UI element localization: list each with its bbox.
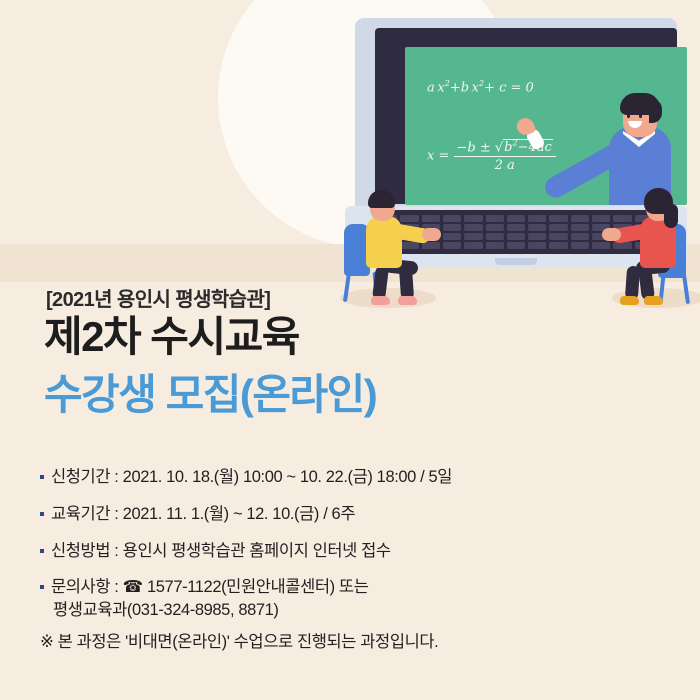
poster-canvas: a x2+b x2+ c = 0 x = −b ± √b2−4ac 2 a <box>0 0 700 700</box>
keyboard-key <box>464 233 482 240</box>
organization-line: [2021년 용인시 평생학습관] <box>46 283 270 312</box>
keyboard-key <box>528 215 546 222</box>
keyboard-key <box>528 242 546 249</box>
list-item-text-secondary: 평생교육과(031-324-8985, 8871) <box>51 599 670 622</box>
page-title-line1: 제2차 수시교육 <box>44 316 299 358</box>
keyboard-key <box>528 233 546 240</box>
keyboard-key <box>549 242 567 249</box>
list-item: 신청기간 : 2021. 10. 18.(월) 10:00 ~ 10. 22.(… <box>40 466 670 489</box>
keyboard-key <box>571 215 589 222</box>
bullet-marker <box>40 549 44 553</box>
keyboard-key <box>464 224 482 231</box>
keyboard-key <box>549 224 567 231</box>
student-left <box>338 186 450 312</box>
keyboard-key <box>507 224 525 231</box>
student-right-ponytail <box>664 204 678 228</box>
laptop-lid: a x2+b x2+ c = 0 x = −b ± √b2−4ac 2 a <box>355 18 677 214</box>
keyboard-key <box>571 242 589 249</box>
keyboard-key <box>464 215 482 222</box>
detail-list: 신청기간 : 2021. 10. 18.(월) 10:00 ~ 10. 22.(… <box>40 466 670 636</box>
student-right <box>596 186 700 312</box>
student-right-hand <box>602 228 621 241</box>
chalkboard: a x2+b x2+ c = 0 x = −b ± √b2−4ac 2 a <box>405 47 687 205</box>
keyboard-key <box>486 215 504 222</box>
keyboard-key <box>486 233 504 240</box>
teacher-eye-right <box>639 114 642 118</box>
laptop-trackpad <box>495 258 537 265</box>
list-item-text: 신청방법 : 용인시 평생학습관 홈페이지 인터넷 접수 <box>51 540 670 563</box>
keyboard-key <box>549 233 567 240</box>
student-left-shoe-back <box>371 296 390 305</box>
keyboard-key <box>549 215 567 222</box>
student-right-shoe-back <box>644 296 663 305</box>
keyboard-key <box>464 242 482 249</box>
footer-note: ※ 본 과정은 '비대면(온라인)' 수업으로 진행되는 과정입니다. <box>40 628 438 652</box>
student-left-hand <box>422 228 441 241</box>
list-item-text: 신청기간 : 2021. 10. 18.(월) 10:00 ~ 10. 22.(… <box>51 466 670 489</box>
chalkboard-formula-quadratic: a x2+b x2+ c = 0 <box>427 79 534 95</box>
list-item: 문의사항 : ☎ 1577-1122(민원안내콜센터) 또는 평생교육과(031… <box>40 576 670 622</box>
list-item-text: 문의사항 : ☎ 1577-1122(민원안내콜센터) 또는 <box>51 578 369 596</box>
list-item: 교육기간 : 2021. 11. 1.(월) ~ 12. 10.(금) / 6주 <box>40 503 670 526</box>
page-title-line2: 수강생 모집(온라인) <box>44 374 376 416</box>
keyboard-key <box>571 224 589 231</box>
teacher-eye-left <box>627 114 630 118</box>
keyboard-key <box>486 224 504 231</box>
student-right-shoe-front <box>620 296 639 305</box>
student-left-shoe-front <box>398 296 417 305</box>
list-item: 신청방법 : 용인시 평생학습관 홈페이지 인터넷 접수 <box>40 540 670 563</box>
keyboard-key <box>528 224 546 231</box>
keyboard-key <box>507 242 525 249</box>
student-left-hair <box>368 190 395 208</box>
keyboard-key <box>571 233 589 240</box>
bullet-marker <box>40 475 44 479</box>
teacher-hair-side <box>649 99 662 123</box>
list-item-text: 교육기간 : 2021. 11. 1.(월) ~ 12. 10.(금) / 6주 <box>51 503 670 526</box>
keyboard-key <box>486 242 504 249</box>
keyboard-key <box>507 215 525 222</box>
laptop-bezel: a x2+b x2+ c = 0 x = −b ± √b2−4ac 2 a <box>375 28 677 204</box>
keyboard-key <box>507 233 525 240</box>
bullet-marker <box>40 585 44 589</box>
bullet-marker <box>40 512 44 516</box>
